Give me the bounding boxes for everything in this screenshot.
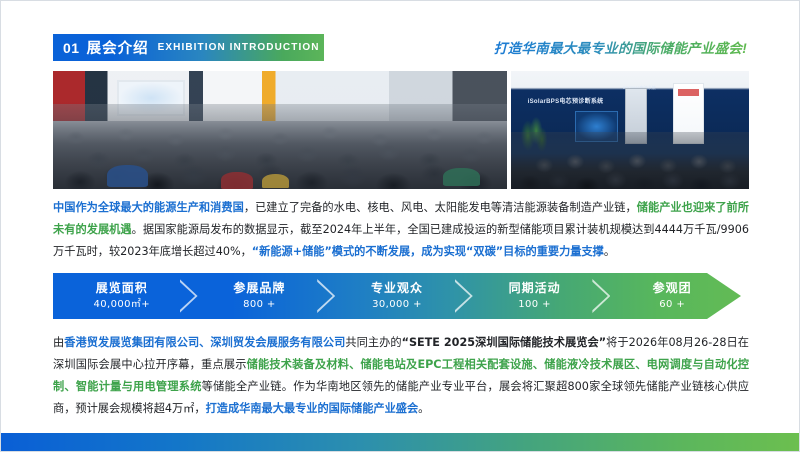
stats-banner: 展览面积 40,000㎡+ 参展品牌 800 + 专业观众 30,000 + 同… — [53, 273, 749, 319]
text-run-0: 由 — [53, 336, 64, 349]
text-run-7: 打造成华南最大最专业的国际储能产业盛会 — [206, 402, 419, 415]
stat-label: 参观团 — [653, 281, 692, 296]
stat-item-visitors: 专业观众 30,000 + — [328, 273, 466, 319]
text-run-4: “新能源+储能”模式的不断发展，成为实现“双碳”目标的重要力量支撑 — [252, 245, 604, 258]
exhibition-booth-photo: iSolarBPS电芯预诊断系统 BPS3000电池系统 — [511, 71, 749, 189]
stat-item-exhibition-area: 展览面积 40,000㎡+ — [53, 273, 191, 319]
header-tagline: 打造华南最大最专业的国际储能产业盛会! — [494, 37, 747, 57]
stat-label: 展览面积 — [96, 281, 148, 296]
text-run-5: 。 — [604, 245, 615, 258]
text-run-1: 香港贸发展览集团有限公司、深圳贸发会展服务有限公司 — [64, 336, 345, 349]
stat-item-delegations: 参观团 60 + — [603, 273, 741, 319]
section-title-en: EXHIBITION INTRODUCTION — [158, 42, 320, 53]
crowd-accent-teal — [443, 168, 479, 187]
stat-value: 100 + — [518, 298, 551, 311]
text-run-0: 中国作为全球最大的能源生产和消费国 — [53, 201, 244, 214]
hall-crowd — [53, 104, 507, 189]
section-number: 01 — [63, 40, 80, 56]
stats-bar: 展览面积 40,000㎡+ 参展品牌 800 + 专业观众 30,000 + 同… — [53, 273, 741, 319]
crowd-accent-yellow — [262, 174, 289, 188]
footer-gradient-bar — [1, 433, 799, 451]
section-title-cn: 展会介绍 — [87, 37, 149, 58]
stat-label: 专业观众 — [371, 281, 423, 296]
crowd-accent-blue — [107, 165, 148, 187]
booth-sign-text: iSolarBPS电芯预诊断系统 — [528, 96, 604, 105]
stat-label: 同期活动 — [509, 281, 561, 296]
stat-value: 60 + — [659, 298, 685, 311]
slide-page: 01 展会介绍 EXHIBITION INTRODUCTION 打造华南最大最专… — [0, 0, 800, 452]
exhibition-hall-photo — [53, 71, 507, 189]
text-run-2: 共同主办的 — [345, 336, 401, 349]
text-run-3: “SETE 2025深圳国际储能技术展览会” — [402, 336, 607, 349]
crowd-accent-red — [221, 172, 253, 189]
text-run-1: ，已建立了完备的水电、核电、风电、太阳能发电等清洁能源装备制造产业链， — [244, 201, 637, 214]
stat-value: 40,000㎡+ — [94, 298, 151, 311]
intro-paragraph: 中国作为全球最大的能源生产和消费国，已建立了完备的水电、核电、风电、太阳能发电等… — [53, 197, 749, 263]
booth-crowd — [511, 132, 749, 189]
stat-label: 参展品牌 — [233, 281, 285, 296]
photo-strip: iSolarBPS电芯预诊断系统 BPS3000电池系统 — [53, 71, 749, 189]
section-header-bar: 01 展会介绍 EXHIBITION INTRODUCTION — [53, 34, 324, 61]
detail-paragraph: 由香港贸发展览集团有限公司、深圳贸发会展服务有限公司共同主办的“SETE 202… — [53, 332, 749, 420]
stat-value: 30,000 + — [372, 298, 422, 311]
stat-value: 800 + — [243, 298, 276, 311]
stat-item-events: 同期活动 100 + — [466, 273, 604, 319]
stat-item-brands: 参展品牌 800 + — [191, 273, 329, 319]
text-run-8: 。 — [418, 402, 429, 415]
